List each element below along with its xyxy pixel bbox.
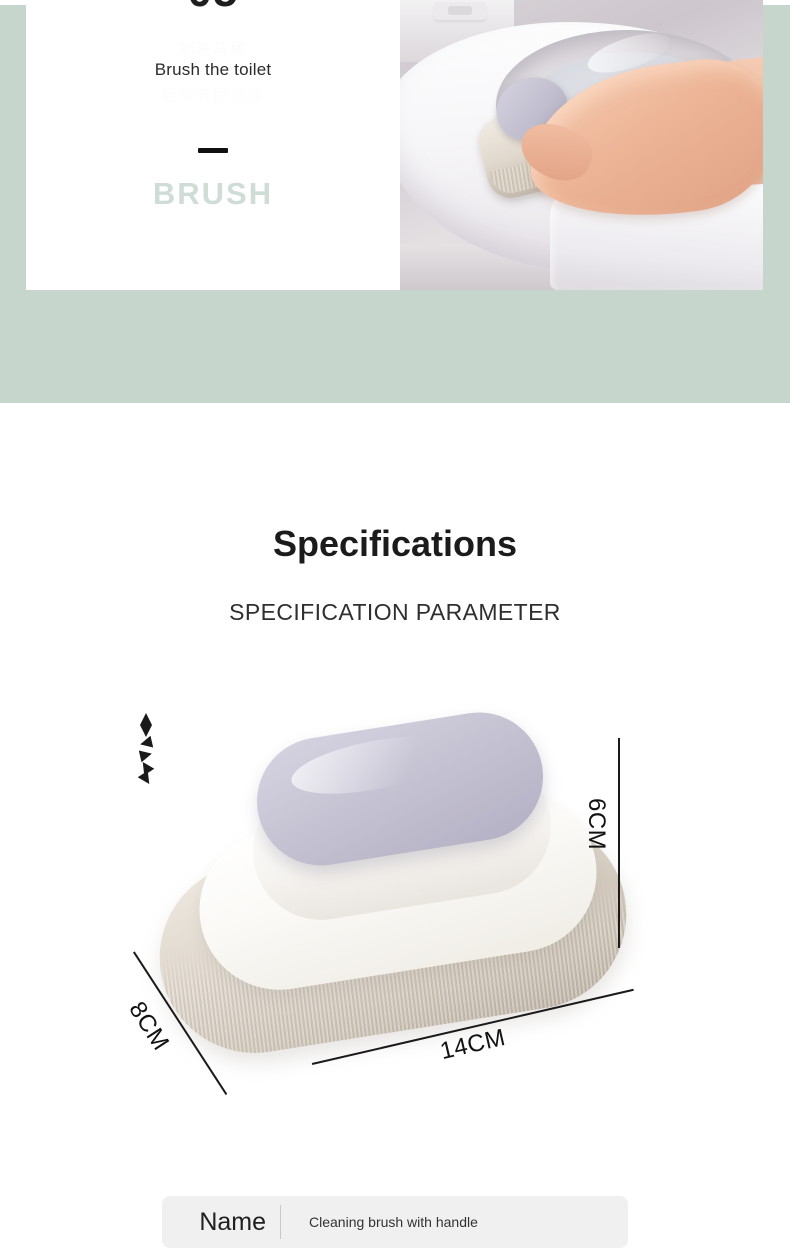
dimension-label-height: 6CM — [582, 798, 610, 850]
step-card: 05 刷洗马桶 Brush the toilet 轻松去除顶顶 BRUSH — [26, 0, 763, 290]
dimension-line-height — [618, 738, 620, 948]
step-divider — [198, 148, 228, 153]
spec-heading-wrap: 规格参数 Specifications — [0, 523, 790, 565]
spec-table: Name Cleaning brush with handle — [162, 1196, 628, 1248]
specifications-section: 规格参数 Specifications SPECIFICATION PARAME… — [0, 403, 790, 1247]
spec-figure: 6CM 14CM 8CM — [0, 703, 790, 1223]
spec-subheading: SPECIFICATION PARAMETER — [0, 599, 790, 626]
spec-heading: Specifications — [0, 523, 790, 565]
spec-key: Name — [162, 1208, 280, 1237]
photo-flush-lever — [434, 2, 486, 20]
dimension-arrow-width-bottom — [138, 771, 155, 788]
step-keyword: BRUSH — [26, 176, 400, 212]
dimension-label-width: 8CM — [123, 997, 175, 1056]
product-photo: 6CM 14CM 8CM — [140, 713, 640, 1093]
step-number: 05 — [26, 0, 400, 14]
step-photo — [400, 0, 763, 290]
dimension-label-length: 14CM — [438, 1024, 509, 1066]
step-ghost-text-below: 轻松去除顶顶 — [26, 84, 400, 105]
step-ghost-text-above: 刷洗马桶 — [26, 38, 400, 59]
step-title: Brush the toilet — [26, 60, 400, 80]
spec-value: Cleaning brush with handle — [281, 1214, 628, 1230]
step-text-column: 05 刷洗马桶 Brush the toilet 轻松去除顶顶 BRUSH — [26, 0, 400, 290]
dimension-arrow-height-top — [140, 713, 152, 725]
step-section: 05 刷洗马桶 Brush the toilet 轻松去除顶顶 BRUSH — [0, 0, 790, 403]
table-row: Name Cleaning brush with handle — [162, 1196, 628, 1248]
